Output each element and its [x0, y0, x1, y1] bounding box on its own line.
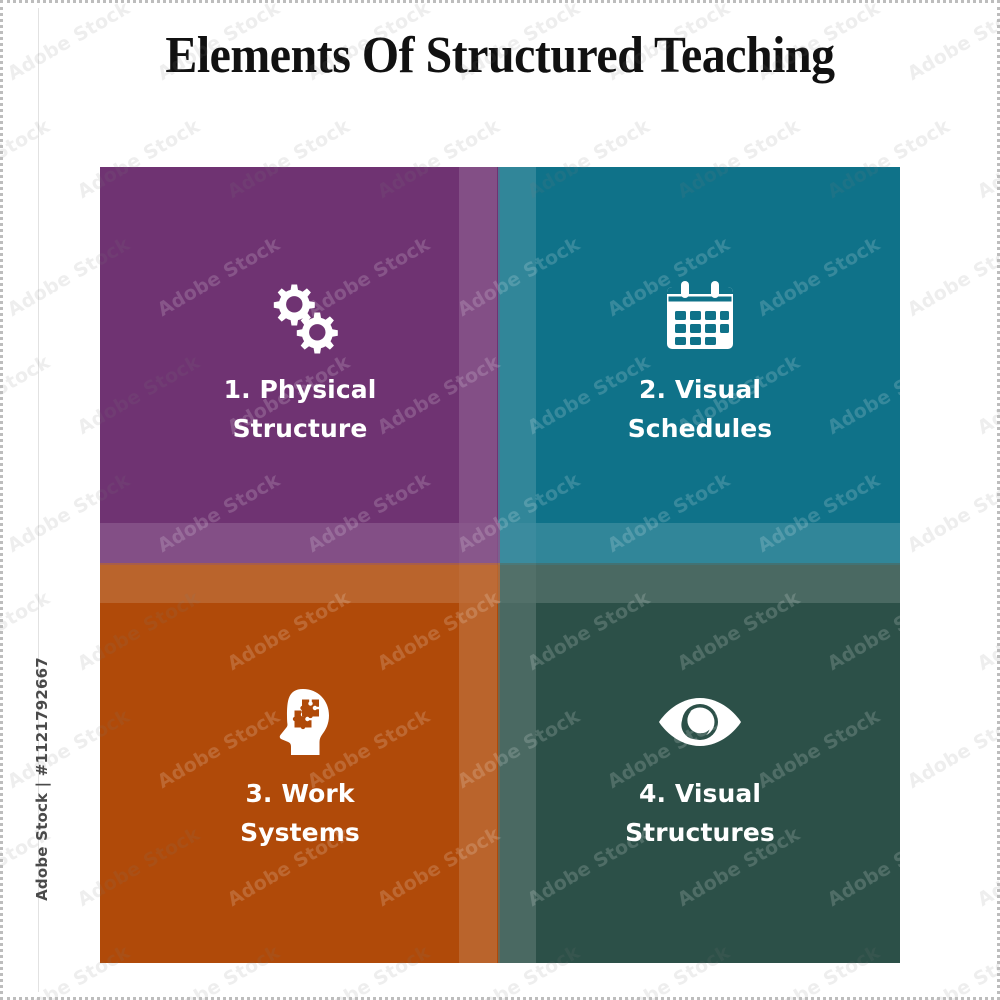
- watermark-text: Adobe Stock: [904, 941, 1000, 1000]
- infographic-board: 1. Physical Structure: [100, 167, 900, 963]
- watermark-text: Adobe Stock: [904, 233, 1000, 321]
- eye-icon: [654, 676, 746, 768]
- quadrant-visual-schedules[interactable]: 2. Visual Schedules: [500, 167, 900, 565]
- gears-icon: [254, 272, 346, 364]
- quadrant-3-label: 3. Work Systems: [235, 774, 365, 852]
- calendar-icon: [654, 272, 746, 364]
- quadrant-3-content: 3. Work Systems: [100, 565, 500, 963]
- quadrant-visual-structures[interactable]: 4. Visual Structures: [500, 565, 900, 963]
- quadrant-4-label: 4. Visual Structures: [625, 774, 775, 852]
- watermark-text: Adobe Stock: [974, 115, 1000, 203]
- quadrant-1-label: 1. Physical Structure: [218, 370, 383, 448]
- head-puzzle-icon: [254, 676, 346, 768]
- quadrant-2-content: 2. Visual Schedules: [500, 161, 900, 569]
- quadrant-1-content: 1. Physical Structure: [100, 161, 500, 569]
- quadrant-physical-structure[interactable]: 1. Physical Structure: [100, 167, 500, 565]
- watermark-text: Adobe Stock: [0, 351, 54, 439]
- watermark-text: Adobe Stock: [974, 587, 1000, 675]
- quadrant-4-content: 4. Visual Structures: [500, 565, 900, 963]
- watermark-text: Adobe Stock: [904, 469, 1000, 557]
- watermark-text: Adobe Stock: [0, 115, 54, 203]
- quadrant-2-label: 2. Visual Schedules: [628, 370, 773, 448]
- watermark-text: Adobe Stock: [974, 351, 1000, 439]
- quadrant-work-systems[interactable]: 3. Work Systems: [100, 565, 500, 963]
- watermark-text: Adobe Stock: [904, 705, 1000, 793]
- stock-credit-text: Adobe Stock | #1121792667: [33, 649, 51, 909]
- watermark-text: Adobe Stock: [974, 823, 1000, 911]
- page-title: Elements Of Structured Teaching: [40, 26, 960, 85]
